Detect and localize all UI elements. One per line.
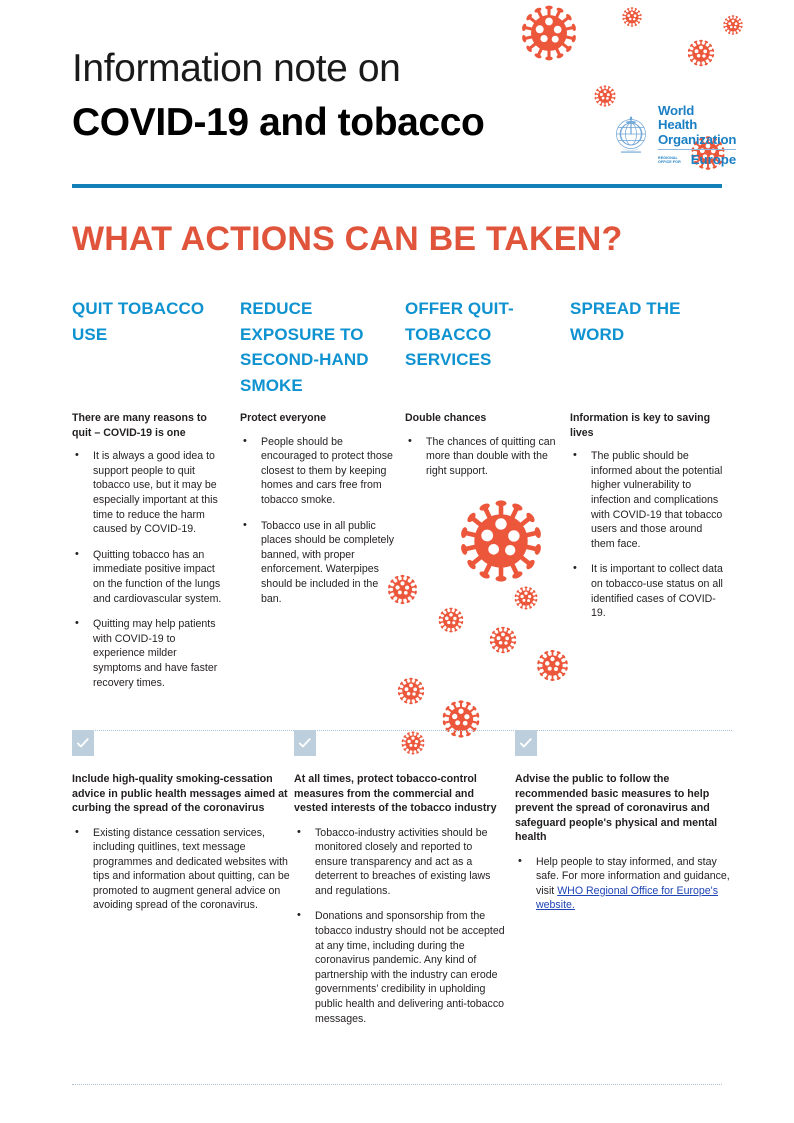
coronavirus-icon: [722, 14, 744, 36]
coronavirus-icon: [535, 648, 570, 683]
coronavirus-icon: [396, 676, 426, 706]
column-bullet-list: People should be encouraged to protect t…: [240, 435, 400, 607]
list-item: It is important to collect data on tobac…: [570, 562, 728, 620]
column-body-reduce-exposure: Protect everyone People should be encour…: [240, 411, 400, 606]
list-item: Donations and sponsorship from the tobac…: [294, 909, 507, 1026]
recommendation-column-2: At all times, protect tobacco-control me…: [294, 730, 507, 1026]
column-heading-quit-tobacco-use: QUIT TOBACCO USE: [72, 296, 222, 347]
column-lead: There are many reasons to quit – COVID-1…: [72, 411, 227, 440]
column-bullet-list: The public should be informed about the …: [570, 449, 728, 621]
list-item: It is always a good idea to support peop…: [72, 449, 227, 537]
coronavirus-icon: [455, 495, 547, 587]
section-heading: WHAT ACTIONS CAN BE TAKEN?: [72, 219, 762, 259]
who-europe-website-link[interactable]: WHO Regional Office for Europe's website…: [536, 885, 718, 912]
list-item: The chances of quitting can more than do…: [405, 435, 557, 479]
recommendation-lead: Include high-quality smoking-cessation a…: [72, 772, 290, 816]
column-body-spread-the-word: Information is key to saving lives The p…: [570, 411, 728, 621]
recommendation-column-1: Include high-quality smoking-cessation a…: [72, 730, 290, 913]
column-lead: Information is key to saving lives: [570, 411, 728, 440]
who-divider: [658, 149, 736, 150]
recommendation-lead: Advise the public to follow the recommen…: [515, 772, 732, 845]
coronavirus-icon: [621, 6, 643, 28]
who-line-2: Organization: [658, 133, 736, 148]
column-body-quit-tobacco-use: There are many reasons to quit – COVID-1…: [72, 411, 227, 690]
footer-divider: [72, 1084, 722, 1086]
who-logo: World Health Organization REGIONAL OFFIC…: [610, 110, 734, 160]
recommendation-bullet-list: Existing distance cessation services, in…: [72, 826, 290, 914]
check-icon: [515, 730, 537, 756]
column-heading-spread-the-word: SPREAD THE WORD: [570, 296, 730, 347]
who-region-label: Europe: [691, 153, 736, 167]
recommendation-bullet-list: Tobacco-industry activities should be mo…: [294, 826, 507, 1027]
list-item: Tobacco-industry activities should be mo…: [294, 826, 507, 899]
list-item: People should be encouraged to protect t…: [240, 435, 400, 508]
list-item: The public should be informed about the …: [570, 449, 728, 551]
check-icon: [294, 730, 316, 756]
column-heading-reduce-exposure: REDUCE EXPOSURE TO SECOND-HAND SMOKE: [240, 296, 392, 398]
column-bullet-list: It is always a good idea to support peop…: [72, 449, 227, 690]
column-heading-offer-services: OFFER QUIT-TOBACCO SERVICES: [405, 296, 555, 373]
column-lead: Double chances: [405, 411, 557, 426]
list-item: Tobacco use in all public places should …: [240, 519, 400, 607]
column-lead: Protect everyone: [240, 411, 400, 426]
list-item: Help people to stay informed, and stay s…: [515, 855, 732, 913]
who-regional-office-label: REGIONAL OFFICE FOR: [658, 157, 687, 166]
coronavirus-icon: [488, 625, 518, 655]
recommendation-lead: At all times, protect tobacco-control me…: [294, 772, 507, 816]
who-line-1: World Health: [658, 104, 736, 133]
list-item: Quitting tobacco has an immediate positi…: [72, 548, 227, 606]
coronavirus-icon: [513, 585, 539, 611]
recommendation-bullet-list: Help people to stay informed, and stay s…: [515, 855, 732, 913]
coronavirus-icon: [437, 606, 465, 634]
check-icon: [72, 730, 94, 756]
recommendation-column-3: Advise the public to follow the recommen…: [515, 730, 732, 913]
title-line-1: Information note on: [72, 44, 722, 94]
column-bullet-list: The chances of quitting can more than do…: [405, 435, 557, 479]
who-wordmark: World Health Organization REGIONAL OFFIC…: [658, 104, 736, 167]
list-item: Existing distance cessation services, in…: [72, 826, 290, 914]
poster-page: Information note on COVID-19 and tobacco: [0, 0, 794, 1123]
header-rule: [72, 184, 722, 188]
list-item: Quitting may help patients with COVID-19…: [72, 617, 227, 690]
who-emblem-icon: [610, 114, 652, 156]
column-body-offer-services: Double chances The chances of quitting c…: [405, 411, 557, 478]
